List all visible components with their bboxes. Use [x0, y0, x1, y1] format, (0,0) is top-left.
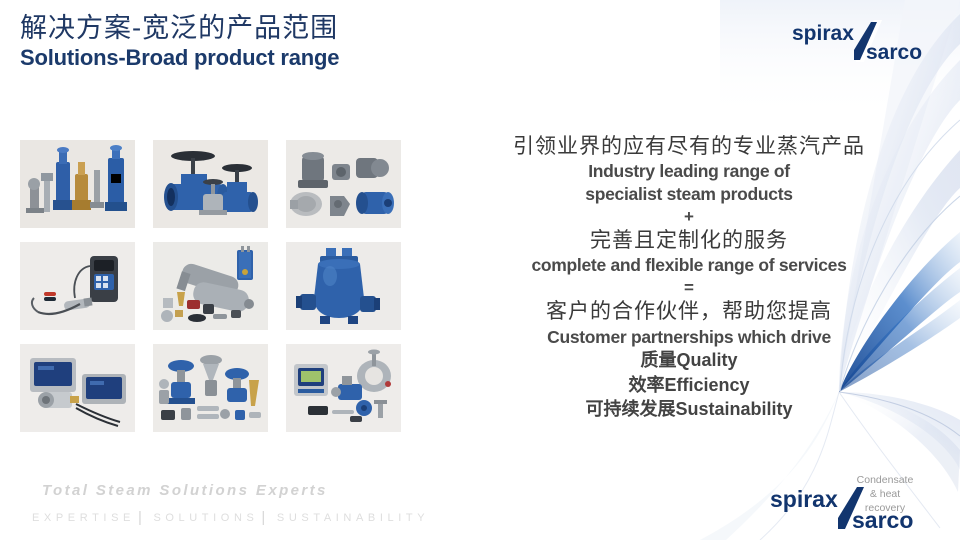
- product-image-pressure-powered-pump: [286, 242, 401, 330]
- spirax-sarco-logo-icon: spirax sarco: [792, 18, 944, 66]
- footer-separator-2: |: [261, 509, 270, 526]
- message-line-efficiency: 效率Efficiency: [452, 373, 926, 397]
- page-title: 解决方案-宽泛的产品范围 Solutions-Broad product ran…: [20, 14, 339, 71]
- footer-pillars: EXPERTISE | SOLUTIONS | SUSTAINABILITY: [32, 509, 429, 526]
- product-image-flow-metering-equipment: [286, 344, 401, 432]
- page-title-english: Solutions-Broad product range: [20, 45, 339, 71]
- slide-canvas: 解决方案-宽泛的产品范围 Solutions-Broad product ran…: [0, 0, 960, 540]
- product-image-level-controllers-and-sensors: [20, 344, 135, 432]
- product-image-steam-traps: [286, 140, 401, 228]
- product-image-safety-relief-valves: [20, 140, 135, 228]
- footer-pillar-solutions: SOLUTIONS: [153, 512, 258, 524]
- product-image-grid: [20, 140, 404, 434]
- product-image-portable-diagnostic-instrument: [20, 242, 135, 330]
- product-image-heat-exchangers-and-fittings: [153, 242, 268, 330]
- footer-tagline: Total Steam Solutions Experts: [42, 482, 328, 499]
- logo-word-spirax-bottom: spirax: [770, 486, 838, 512]
- brand-logo-top: spirax sarco: [792, 18, 944, 66]
- message-line-sustainability: 可持续发展Sustainability: [452, 397, 926, 421]
- message-block: 引领业界的应有尽有的专业蒸汽产品 Industry leading range …: [452, 133, 926, 421]
- footer-pillar-expertise: EXPERTISE: [32, 512, 135, 524]
- message-operator-equals: =: [452, 277, 926, 298]
- product-image-isolation-globe-valves: [153, 140, 268, 228]
- logo-word-sarco: sarco: [866, 41, 922, 64]
- logo-word-spirax: spirax: [792, 22, 854, 45]
- message-line-3: specialist steam products: [452, 183, 926, 206]
- brand-logo-bottom: spirax sarco: [770, 483, 938, 533]
- message-line-9: Customer partnerships which drive: [452, 326, 926, 349]
- message-line-quality: 质量Quality: [452, 348, 926, 372]
- footer-pillar-sustainability: SUSTAINABILITY: [277, 512, 429, 524]
- message-line-6: complete and flexible range of services: [452, 254, 926, 277]
- product-image-control-valves-with-actuators: [153, 344, 268, 432]
- spirax-sarco-logo-icon-bottom: spirax sarco: [770, 483, 938, 533]
- message-line-5: 完善且定制化的服务: [452, 227, 926, 254]
- page-title-chinese: 解决方案-宽泛的产品范围: [20, 14, 339, 44]
- message-line-1: 引领业界的应有尽有的专业蒸汽产品: [452, 133, 926, 160]
- logo-word-sarco-bottom: sarco: [852, 507, 913, 533]
- message-operator-plus: +: [452, 206, 926, 227]
- message-line-2: Industry leading range of: [452, 160, 926, 183]
- footer-separator-1: |: [138, 509, 147, 526]
- message-line-8: 客户的合作伙伴，帮助您提高: [452, 298, 926, 325]
